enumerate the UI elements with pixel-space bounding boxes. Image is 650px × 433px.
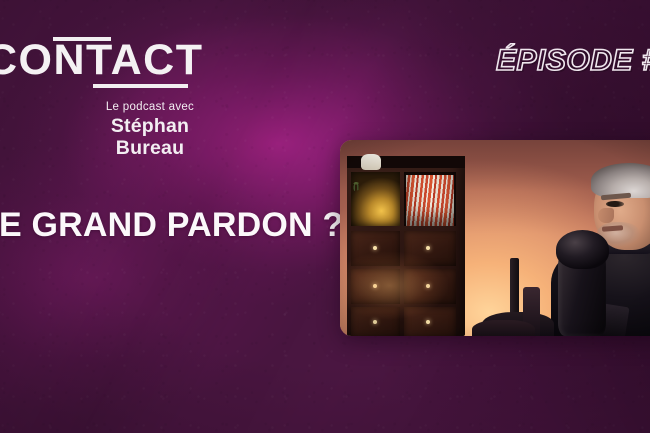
episode-number-label: ÉPISODE #8 bbox=[496, 44, 650, 78]
host-first-name: Stéphan bbox=[0, 116, 300, 138]
podcast-tagline: Le podcast avec Stéphan Bureau bbox=[0, 100, 300, 159]
logo-bottom-rule bbox=[93, 84, 188, 88]
host-last-name: Bureau bbox=[0, 138, 300, 160]
logo-wordmark: CONTACT bbox=[0, 40, 204, 80]
host-name: Stéphan Bureau bbox=[0, 116, 300, 159]
tagline-prefix: Le podcast avec bbox=[0, 100, 300, 115]
thumbnail-vignette bbox=[340, 140, 650, 336]
episode-title: LE GRAND PARDON ? bbox=[0, 206, 343, 245]
episode-thumbnail[interactable] bbox=[340, 140, 650, 336]
podcast-episode-banner: CONTACT Le podcast avec Stéphan Bureau L… bbox=[0, 0, 650, 433]
